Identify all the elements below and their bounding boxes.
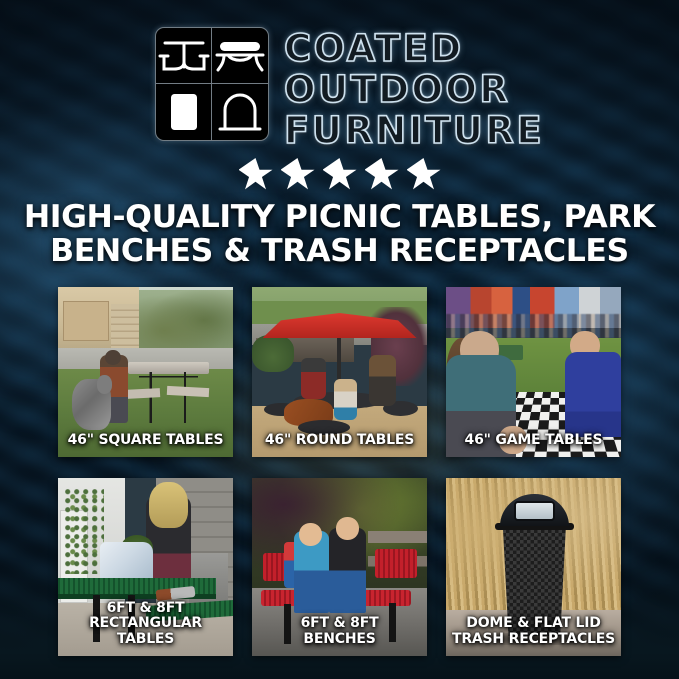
product-caption-line-1: 6FT & 8FT [60,601,231,617]
park-bench-icon [212,28,268,84]
product-caption-line-2: RECTANGULAR TABLES [60,616,231,647]
product-tile-game-tables[interactable]: 46" GAME TABLES [446,287,621,457]
product-tile-rectangular-tables[interactable]: 6FT & 8FT RECTANGULAR TABLES [58,478,233,656]
product-tile-round-tables[interactable]: 46" ROUND TABLES [252,287,427,457]
product-caption-line-2: TRASH RECEPTACLES [448,632,619,648]
wordmark-line-furniture: FURNITURE [284,111,544,151]
logo-icon-grid [155,27,269,141]
photo-dome-opening [514,501,554,521]
product-caption-line-1: 6FT & 8FT [254,616,425,632]
product-caption: DOME & FLAT LID TRASH RECEPTACLES [448,616,619,647]
star-icon [239,158,273,191]
trash-receptacle-icon [156,84,212,140]
promotional-banner: COATED OUTDOOR FURNITURE HIGH-QUALITY PI… [0,0,679,679]
photo-vine [65,489,104,574]
photo-boy-left-head [299,523,322,546]
product-caption: 6FT & 8FT RECTANGULAR TABLES [60,601,231,648]
photo-table-frame [139,372,199,423]
product-tile-grid: 46" SQUARE TABLES [58,287,622,656]
photo-boy-right-head [336,517,359,540]
photo-adult-left [301,358,326,399]
photo-bench-back-right [375,549,417,577]
product-caption: 46" ROUND TABLES [254,433,425,449]
photo-child [334,379,357,420]
wordmark-line-coated: COATED [284,29,544,69]
product-caption-line-1: 46" GAME TABLES [448,433,619,449]
photo-garage-door [63,301,109,342]
star-icon [365,158,399,191]
star-icon [323,158,357,191]
product-caption-line-2: BENCHES [254,632,425,648]
brand-logo: COATED OUTDOOR FURNITURE [155,27,544,151]
photo-boy-right [329,528,366,613]
headline: HIGH-QUALITY PICNIC TABLES, PARK BENCHES… [0,200,679,268]
brand-wordmark: COATED OUTDOOR FURNITURE [284,27,544,151]
product-tile-square-tables[interactable]: 46" SQUARE TABLES [58,287,233,457]
photo-hedge [252,335,294,372]
product-caption-line-1: 46" ROUND TABLES [254,433,425,449]
product-tile-benches[interactable]: 6FT & 8FT BENCHES [252,478,427,656]
product-caption-line-1: 46" SQUARE TABLES [60,433,231,449]
picnic-table-icon [156,28,212,84]
photo-dog-head [97,375,113,394]
star-rating [0,158,679,191]
product-caption: 46" SQUARE TABLES [60,433,231,449]
photo-boy [565,352,621,437]
headline-line-2: BENCHES & TRASH RECEPTACLES [0,234,679,268]
headline-line-1: HIGH-QUALITY PICNIC TABLES, PARK [0,200,679,234]
wordmark-line-outdoor: OUTDOOR [284,70,544,110]
product-caption-line-1: DOME & FLAT LID [448,616,619,632]
product-tile-trash-receptacles[interactable]: DOME & FLAT LID TRASH RECEPTACLES [446,478,621,656]
bike-rack-icon [212,84,268,140]
star-icon [407,158,441,191]
product-caption: 6FT & 8FT BENCHES [254,616,425,647]
photo-person-head [105,350,121,365]
product-caption: 46" GAME TABLES [448,433,619,449]
star-icon [281,158,315,191]
photo-table-bench-left [124,388,159,398]
photo-woman-hair [149,482,188,528]
photo-adult-right [369,355,395,406]
